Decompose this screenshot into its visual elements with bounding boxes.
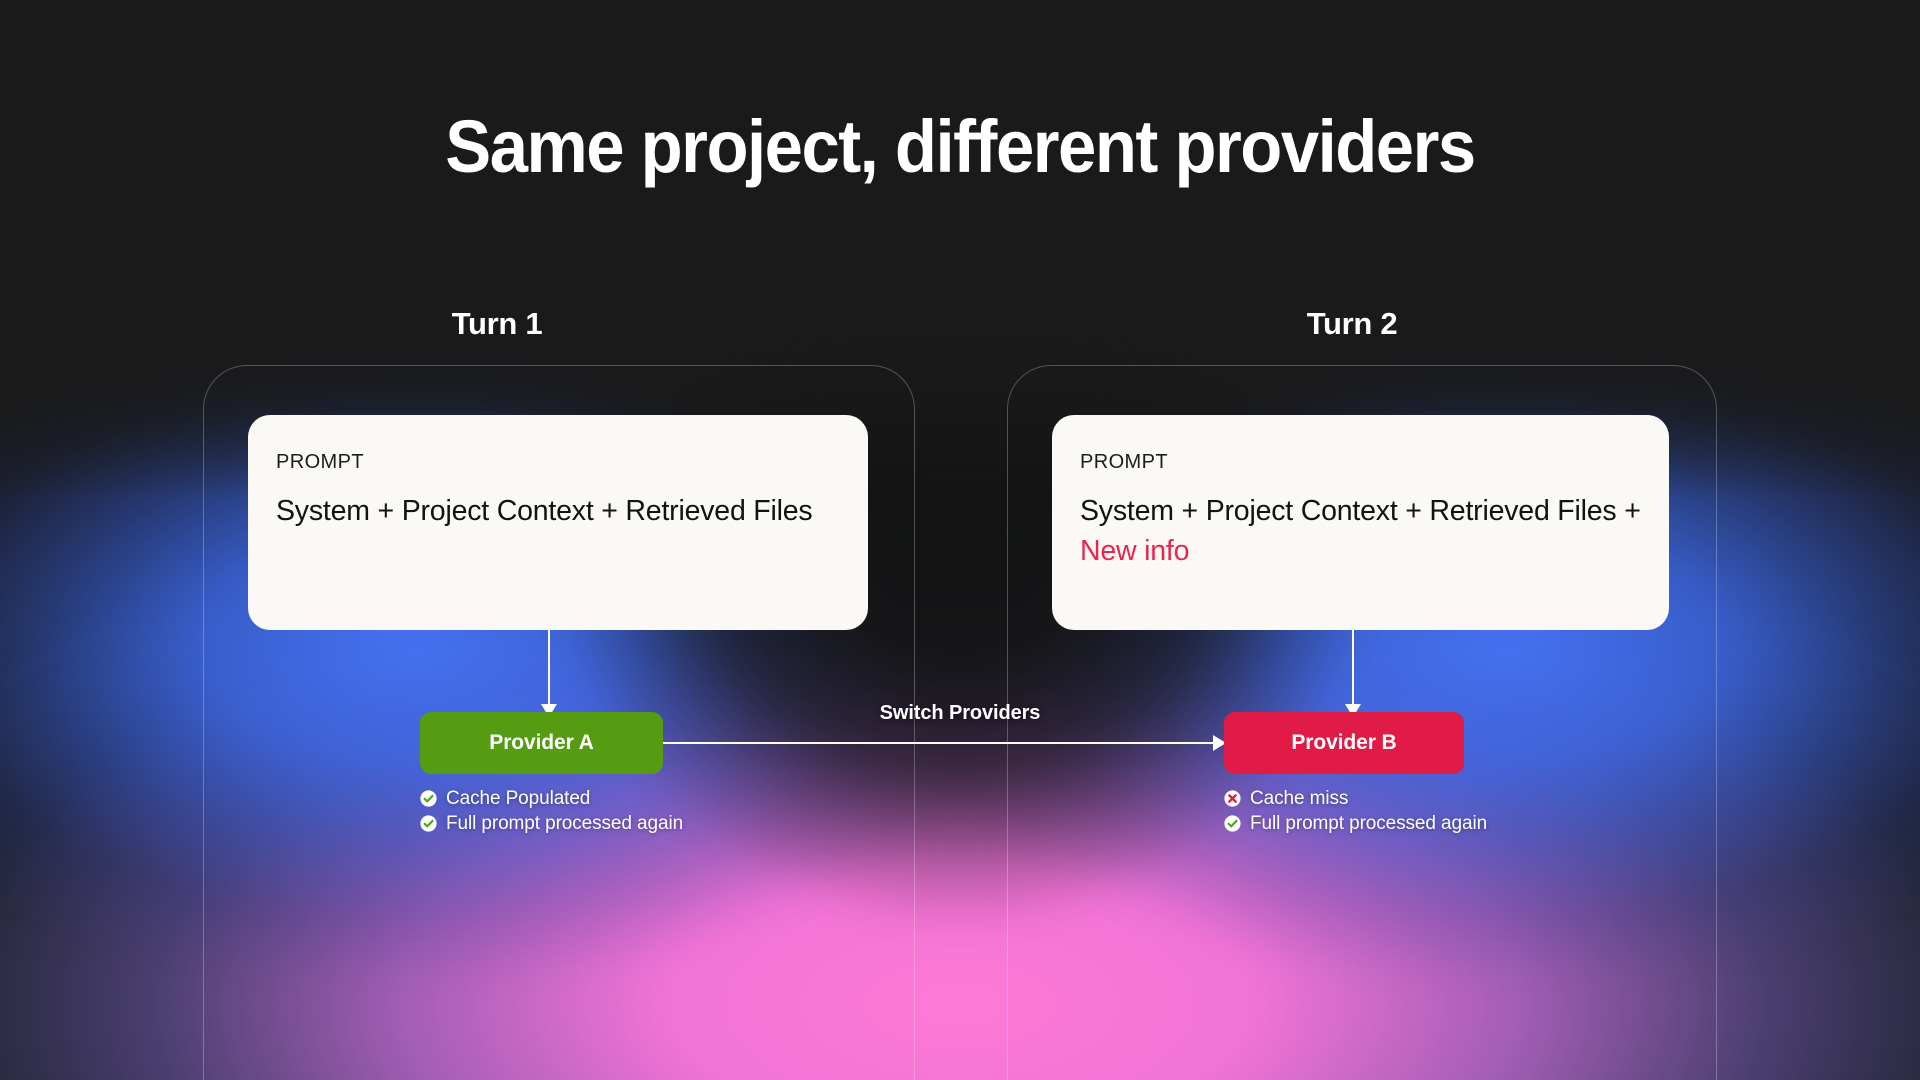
diagram-canvas: Same project, different providers Turn 1… bbox=[0, 0, 1920, 1080]
check-circle-icon bbox=[420, 815, 437, 832]
status-item: Cache Populated bbox=[420, 786, 683, 811]
status-label: Cache Populated bbox=[446, 788, 590, 810]
provider-b-label: Provider B bbox=[1291, 731, 1396, 755]
turn-1-prompt-card: PROMPT System + Project Context + Retrie… bbox=[248, 415, 868, 630]
provider-a-label: Provider A bbox=[489, 731, 593, 755]
status-item: Full prompt processed again bbox=[420, 811, 683, 836]
turn-1-status-list: Cache Populated Full prompt processed ag… bbox=[420, 786, 683, 836]
turn-2-prompt-text: System + Project Context + Retrieved Fil… bbox=[1080, 495, 1641, 527]
check-circle-icon bbox=[420, 790, 437, 807]
x-circle-icon bbox=[1224, 790, 1241, 807]
turn-1-prompt-body: System + Project Context + Retrieved Fil… bbox=[276, 491, 840, 531]
status-label: Cache miss bbox=[1250, 788, 1348, 810]
provider-a-pill[interactable]: Provider A bbox=[420, 712, 663, 774]
switch-providers-arrow-icon bbox=[658, 735, 1225, 751]
check-circle-icon bbox=[1224, 815, 1241, 832]
turn-1-heading: Turn 1 bbox=[452, 306, 543, 342]
turn-2-heading: Turn 2 bbox=[1307, 306, 1398, 342]
page-title: Same project, different providers bbox=[67, 104, 1853, 189]
turn-2-down-arrow-icon bbox=[1344, 630, 1362, 716]
turn-2-prompt-body: System + Project Context + Retrieved Fil… bbox=[1080, 491, 1641, 572]
turn-2-prompt-label: PROMPT bbox=[1080, 451, 1641, 474]
status-label: Full prompt processed again bbox=[446, 813, 683, 835]
status-label: Full prompt processed again bbox=[1250, 813, 1487, 835]
turn-1-prompt-label: PROMPT bbox=[276, 451, 840, 474]
arrow-shaft bbox=[658, 742, 1225, 744]
switch-providers-label: Switch Providers bbox=[880, 702, 1041, 725]
turn-2-status-list: Cache miss Full prompt processed again bbox=[1224, 786, 1487, 836]
turn-1-prompt-text: System + Project Context + Retrieved Fil… bbox=[276, 495, 812, 527]
provider-b-pill[interactable]: Provider B bbox=[1224, 712, 1464, 774]
turn-2-new-info-highlight: New info bbox=[1080, 535, 1189, 567]
status-item: Cache miss bbox=[1224, 786, 1487, 811]
turn-1-down-arrow-icon bbox=[540, 630, 558, 716]
status-item: Full prompt processed again bbox=[1224, 811, 1487, 836]
turn-2-prompt-card: PROMPT System + Project Context + Retrie… bbox=[1052, 415, 1669, 630]
